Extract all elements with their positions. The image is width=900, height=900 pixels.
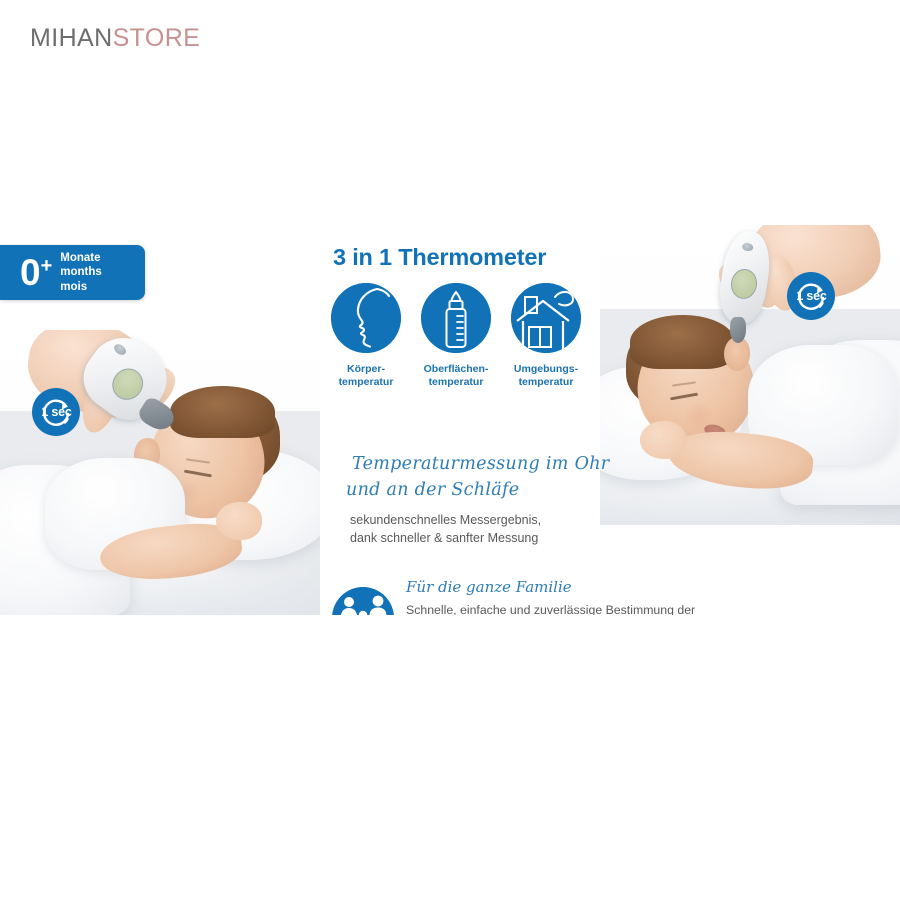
headline-subtext-line2: dank schneller & sanfter Messung <box>350 529 541 547</box>
feature-icon-row: Körper- temperatur O <box>327 283 587 389</box>
age-badge-zero: 0 <box>20 252 40 293</box>
family-description-line1: Schnelle, einfache und zuverlässige Best… <box>406 602 714 615</box>
feature-item-ambient-temperature[interactable]: Umgebungs- temperatur <box>507 283 585 389</box>
photo-baby-ear-measurement-right: 1 sec <box>600 225 900 525</box>
photo-baby-ear-measurement-left: 1 sec <box>0 330 320 615</box>
brand-logo[interactable]: MIHANSTORE <box>30 24 200 53</box>
headline-subtext-line1: sekundenschnelles Messergebnis, <box>350 511 541 529</box>
speed-badge-label-left: 1 sec <box>32 388 80 436</box>
baby-hand-left <box>216 502 262 540</box>
feature-item-body-temperature[interactable]: Körper- temperatur <box>327 283 405 389</box>
speed-badge-label-right: 1 sec <box>787 272 835 320</box>
face-profile-icon <box>331 283 401 353</box>
baby-hand-right <box>640 421 686 459</box>
headline-script-line2: und an der Schläfe <box>346 480 519 500</box>
headline-subtext: sekundenschnelles Messergebnis, dank sch… <box>350 511 541 547</box>
page-root: MIHANSTORE <box>0 0 900 900</box>
banner-title: 3 in 1 Thermometer <box>333 244 546 271</box>
thermometer-probe-right <box>730 317 746 343</box>
age-badge-line-de: Monate <box>60 251 102 266</box>
age-badge-line-en: months <box>60 265 102 280</box>
age-badge-line-fr: mois <box>60 280 102 295</box>
speed-badge-left: 1 sec <box>32 388 80 436</box>
brand-logo-part1: MIHAN <box>30 24 113 52</box>
age-badge-words: Monate months mois <box>60 251 102 295</box>
family-icon <box>332 587 394 615</box>
baby-hair-top-left <box>170 386 275 438</box>
feature-label-body-temperature: Körper- temperatur <box>327 363 405 389</box>
family-description: Schnelle, einfache und zuverlässige Best… <box>406 602 714 615</box>
age-badge-number: 0+ <box>20 254 51 291</box>
house-icon <box>511 283 581 353</box>
feature-item-surface-temperature[interactable]: Oberflächen- temperatur <box>417 283 495 389</box>
age-badge: 0+ Monate months mois <box>0 245 145 300</box>
feature-label-ambient-temperature: Umgebungs- temperatur <box>507 363 585 389</box>
age-badge-plus: + <box>41 255 52 277</box>
product-banner: 1 sec <box>0 215 900 615</box>
baby-bottle-icon <box>421 283 491 353</box>
baby-hair-top-right <box>630 315 735 369</box>
headline-script-line1: Temperaturmessung im Ohr <box>352 454 609 474</box>
brand-logo-part2: STORE <box>113 24 201 52</box>
family-title: Für die ganze Familie <box>406 578 572 596</box>
speed-badge-right: 1 sec <box>787 272 835 320</box>
feature-label-surface-temperature: Oberflächen- temperatur <box>417 363 495 389</box>
